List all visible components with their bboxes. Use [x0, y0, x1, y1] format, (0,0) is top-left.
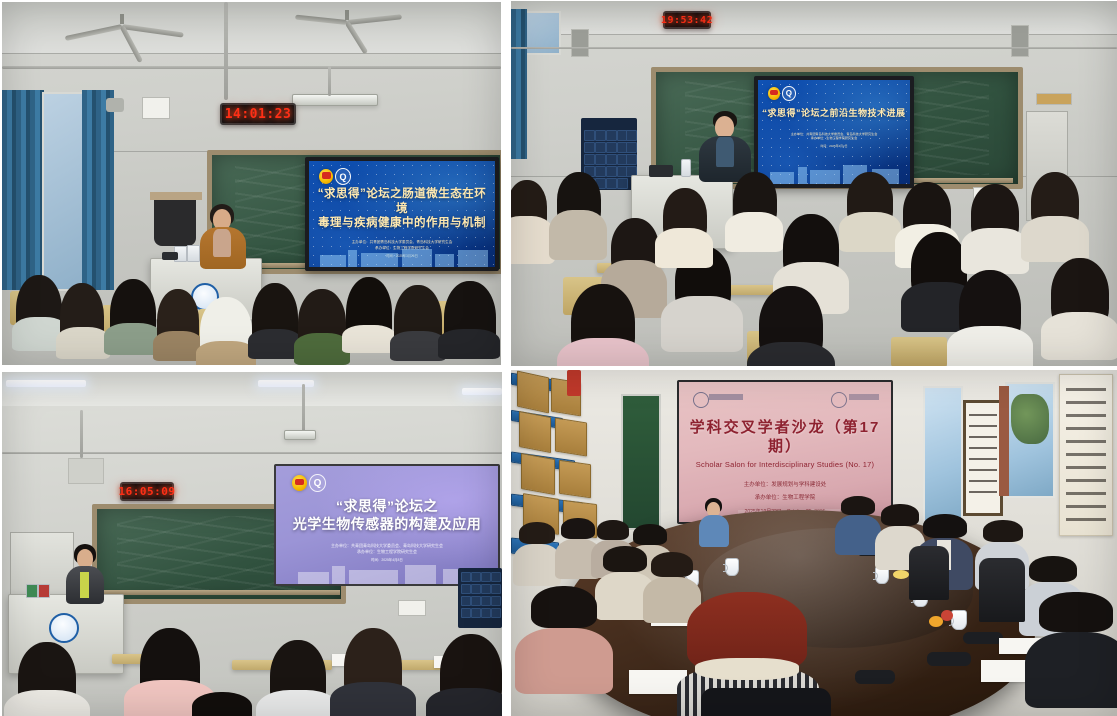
participant [519, 522, 555, 568]
presenter [198, 204, 250, 266]
slide-logos: Q [768, 86, 796, 101]
calligraphy-scroll [1059, 374, 1113, 536]
ceiling-light-tube [462, 388, 502, 395]
qust-q-logo-icon: Q [335, 168, 351, 185]
youth-league-emblem-icon [292, 475, 307, 491]
window-curtain [511, 9, 527, 159]
photo-collage: 14:01:23 Q “求思得”论坛之肠道微生态在环境 毒理与疾病健康中的作用与… [0, 0, 1117, 716]
seal-name-mark [849, 394, 879, 400]
clock-time: 19:53:42 [661, 15, 713, 26]
participant [561, 518, 595, 562]
clock-time: 16:05:09 [119, 485, 176, 498]
digital-wall-clock: 14:01:23 [220, 103, 296, 125]
qust-university-logo-icon [693, 392, 709, 408]
tabletop-microphone [855, 670, 895, 684]
slide-host-line: 主办单位：发展规划与学科建设处 [744, 481, 827, 489]
youth-league-emblem-icon [768, 87, 780, 100]
slide-title-line2: 光学生物传感器的构建及应用 [293, 516, 482, 534]
photo-bottom-left: 16:05:09 Q “求思得”论坛之 光学生物传感器的构建及应用 主办单位：共… [2, 372, 502, 716]
outdoor-foliage [1011, 394, 1049, 444]
door [621, 394, 661, 530]
wall-projector-box [68, 458, 104, 484]
apple-fruit [941, 610, 953, 621]
wall-speaker-box [142, 97, 170, 119]
presenter [64, 544, 106, 602]
qust-seal-logo-icon [831, 392, 847, 408]
participant [841, 496, 875, 540]
wall-notice [1036, 93, 1072, 105]
wall-speaker [571, 29, 589, 57]
audience [2, 275, 501, 365]
slide-logos: Q [319, 168, 351, 185]
ceiling-light-tube [258, 380, 314, 387]
marker-box [26, 584, 38, 598]
audience [511, 166, 1117, 366]
window-curtain [2, 90, 44, 290]
projector-mount [284, 430, 316, 440]
participant [1039, 592, 1113, 702]
window [923, 386, 963, 530]
university-name-mark [709, 394, 743, 400]
slide-organizer-line: 承办单位：生物工程学院研究生会 [357, 549, 417, 555]
slide-title-line1: “求思得”论坛之 [336, 498, 438, 516]
tabletop-microphone [963, 632, 1003, 644]
clock-time: 14:01:23 [225, 107, 292, 122]
audience [2, 606, 502, 716]
tea-cup [951, 610, 967, 630]
wall-speaker [1011, 25, 1029, 57]
photo-bottom-right: 学科交叉学者沙龙（第17期） Scholar Salon for Interdi… [511, 370, 1117, 716]
marker-box [38, 584, 50, 598]
window-curtain [82, 90, 114, 290]
ceiling-light-tube [6, 380, 86, 387]
photo-top-left: 14:01:23 Q “求思得”论坛之肠道微生态在环境 毒理与疾病健康中的作用与… [2, 2, 501, 365]
slide-logos: Q [292, 474, 326, 492]
digital-wall-clock: 16:05:09 [120, 482, 174, 501]
qust-q-logo-icon: Q [309, 474, 326, 492]
fruit-plate [893, 570, 909, 579]
slide-organizer-line: 承办单位：生物工程学院 [755, 494, 816, 502]
participant [531, 586, 597, 672]
participant [603, 546, 647, 602]
slide-title-cn: 学科交叉学者沙龙（第17期） [679, 418, 891, 456]
presenter [699, 498, 729, 546]
presentation-screen: Q “求思得”论坛之肠道微生态在环境 毒理与疾病健康中的作用与机制 主办单位：共… [305, 157, 499, 271]
slide-title-en: Scholar Salon for Interdisciplinary Stud… [696, 460, 874, 469]
photo-top-right: 19:53:42 Q “求思得”论坛之前沿生物技术进展 主办单位：共青团青岛科技… [511, 1, 1117, 366]
qust-q-logo-icon: Q [782, 86, 796, 101]
ceiling-light-fixture [292, 94, 378, 106]
digital-wall-clock: 19:53:42 [663, 11, 711, 29]
slide-skyline-graphic [309, 237, 495, 267]
youth-league-emblem-icon [319, 169, 333, 184]
laptop [162, 252, 178, 260]
tea-cup [725, 558, 739, 576]
framed-calligraphy [963, 400, 1003, 516]
tabletop-microphone [927, 652, 971, 666]
